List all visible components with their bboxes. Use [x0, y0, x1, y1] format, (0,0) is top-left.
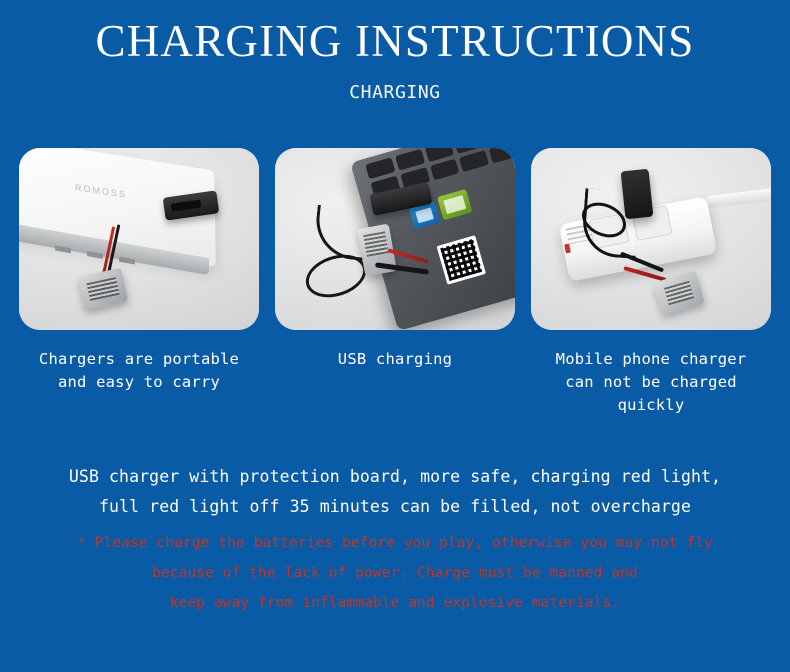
- qr-code-icon: [437, 235, 486, 284]
- caption-laptop: USB charging: [275, 348, 515, 417]
- body-line-2: full red light off 35 minutes can be fil…: [0, 492, 790, 522]
- warning-line-3: keep away from inflammable and explosive…: [0, 588, 790, 618]
- power-bank-photo: ROMOSS: [19, 148, 259, 330]
- caption-row: Chargers are portable and easy to carry …: [19, 348, 771, 417]
- warning-text-block: * Please charge the batteries before you…: [0, 528, 790, 618]
- photo-panel-row: ROMOSS: [19, 148, 771, 330]
- caption-power-strip: Mobile phone charger can not be charged …: [531, 348, 771, 417]
- photo-panel-laptop: [275, 148, 515, 330]
- body-text-block: USB charger with protection board, more …: [0, 462, 790, 522]
- caption-line-1: Chargers are portable: [39, 350, 239, 368]
- caption-line-1: Mobile phone charger: [556, 350, 747, 368]
- caption-line-2: can not be charged quickly: [531, 371, 771, 417]
- photo-panel-power-strip: [531, 148, 771, 330]
- caption-line-1: USB charging: [338, 350, 452, 368]
- warning-line-1: * Please charge the batteries before you…: [0, 528, 790, 558]
- photo-panel-power-bank: ROMOSS: [19, 148, 259, 330]
- power-strip-photo: [531, 148, 771, 330]
- caption-power-bank: Chargers are portable and easy to carry: [19, 348, 259, 417]
- warning-line-2: because of the lack of power. Charge mus…: [0, 558, 790, 588]
- lipo-battery-icon: [78, 268, 128, 310]
- body-line-1: USB charger with protection board, more …: [0, 462, 790, 492]
- page-title: CHARGING INSTRUCTIONS: [0, 18, 790, 65]
- charging-instructions-page: CHARGING INSTRUCTIONS CHARGING ROMOSS: [0, 0, 790, 672]
- page-subtitle: CHARGING: [0, 82, 790, 103]
- caption-line-2: and easy to carry: [19, 371, 259, 394]
- nvidia-sticker-icon: [437, 189, 472, 220]
- laptop-photo: [275, 148, 515, 330]
- mains-cord-icon: [705, 188, 771, 209]
